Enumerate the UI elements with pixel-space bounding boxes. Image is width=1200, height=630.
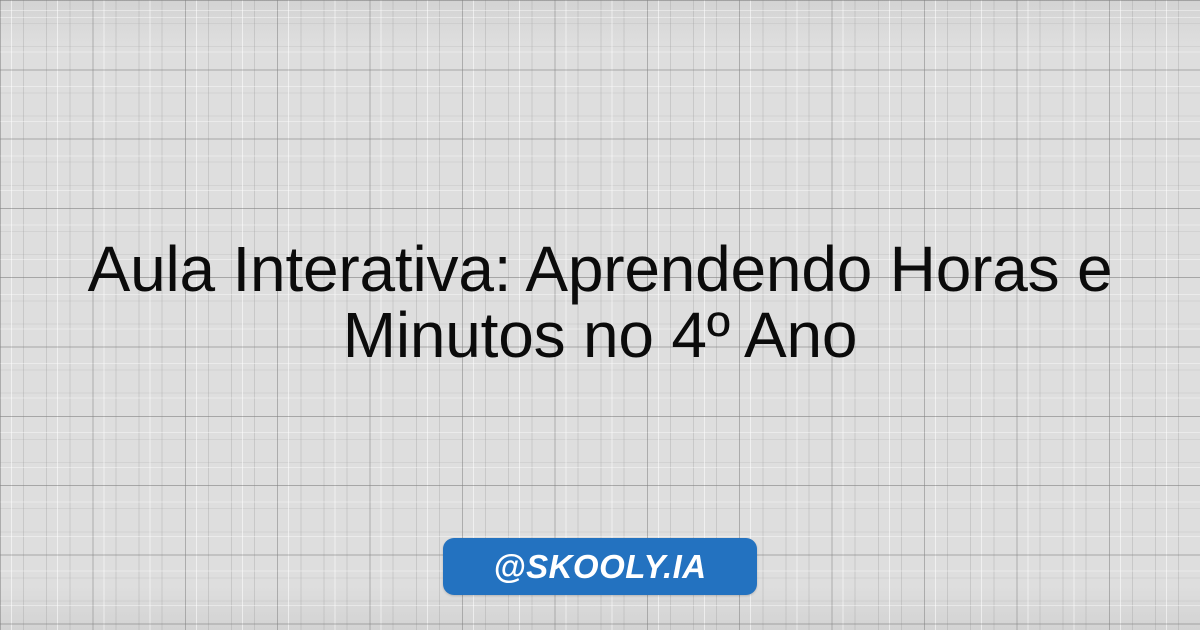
poster-canvas: Aula Interativa: Aprendendo Horas e Minu… <box>0 0 1200 630</box>
page-title-line-2: Minutos no 4º Ano <box>40 302 1160 368</box>
page-title: Aula Interativa: Aprendendo Horas e Minu… <box>0 236 1200 368</box>
handle-badge[interactable]: @SKOOLY.IA <box>443 538 757 595</box>
page-title-line-1: Aula Interativa: Aprendendo Horas e <box>40 236 1160 302</box>
handle-badge-label: @SKOOLY.IA <box>493 550 706 583</box>
